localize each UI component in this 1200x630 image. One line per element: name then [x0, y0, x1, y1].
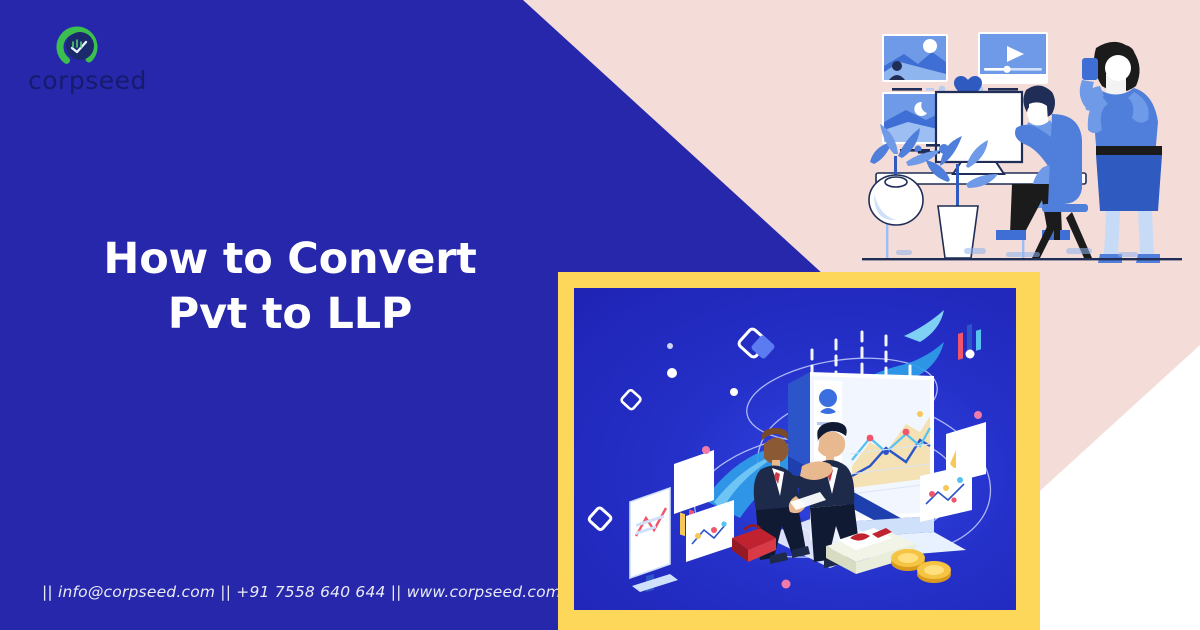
- video-card-play: [977, 32, 1048, 92]
- page-title-line-1: How to Convert: [103, 234, 476, 284]
- tablet-chart-stand: [630, 488, 678, 592]
- corpseed-circle-logo-icon: [56, 26, 98, 68]
- standing-woman: [1080, 42, 1162, 263]
- photo-card-beach: [882, 34, 948, 92]
- floating-bar-chart-card: [946, 324, 986, 484]
- contact-footer: || info@corpseed.com || +91 7558 640 644…: [42, 583, 577, 601]
- floating-card-dots-left: [686, 500, 734, 562]
- banner-canvas: corpseed How to Convert Pvt to LLP || in…: [0, 0, 1200, 630]
- business-handshake-isometric-illustration: [574, 288, 1016, 610]
- brand-logo[interactable]: corpseed: [28, 26, 178, 86]
- featured-image-frame: [558, 272, 1040, 630]
- page-title: How to Convert Pvt to LLP: [60, 232, 520, 342]
- brand-wordmark: corpseed: [28, 68, 178, 93]
- workspace-people-illustration: [856, 18, 1186, 276]
- gold-coins: [891, 549, 951, 583]
- page-title-line-2: Pvt to LLP: [60, 287, 520, 342]
